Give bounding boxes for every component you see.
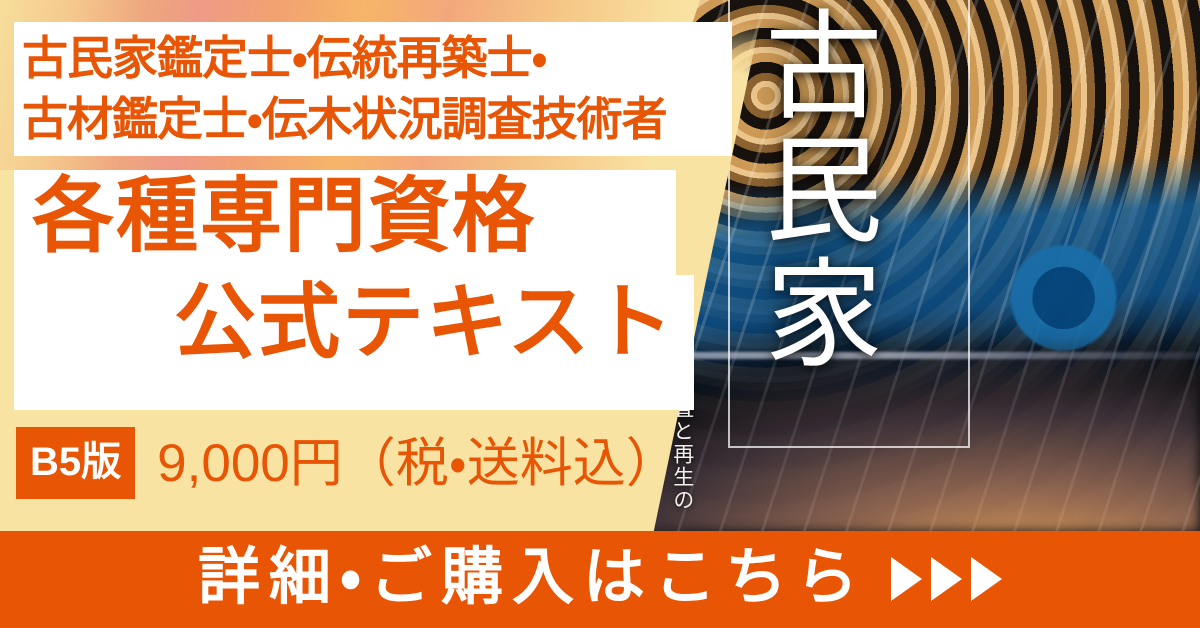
chevron-right-icon	[971, 557, 1002, 601]
cta-label: 詳細・ご購入はこちら	[198, 547, 867, 609]
chevron-right-icon	[891, 557, 922, 601]
main-title-block: 各種専門資格 公式テキスト	[14, 176, 686, 406]
cta-arrow-group	[891, 557, 1002, 601]
format-badge: B5版	[16, 427, 135, 499]
headline-block: 古民家鑑定士・伝統再築士・ 古材鑑定士・伝木状況調査技術者	[14, 22, 732, 156]
cta-bar[interactable]: 詳細・ご購入はこちら	[0, 531, 1200, 628]
promo-banner: 伝統構法、古民家活用のための調査と再生の 古民家 古民家鑑定士・伝統再築士・ 古…	[0, 0, 1200, 628]
price-amount: 9,000円（税・送料込）	[157, 437, 679, 490]
book-cover-title: 古民家	[742, 4, 881, 376]
main-title-line-2: 公式テキスト	[174, 282, 676, 364]
chevron-right-icon	[931, 557, 962, 601]
main-title-line-1: 各種専門資格	[32, 176, 536, 258]
headline-line-2: 古材鑑定士・伝木状況調査技術者	[22, 89, 732, 150]
price-row: B5版 9,000円（税・送料込）	[16, 428, 679, 498]
headline-line-1: 古民家鑑定士・伝統再築士・	[22, 28, 732, 89]
